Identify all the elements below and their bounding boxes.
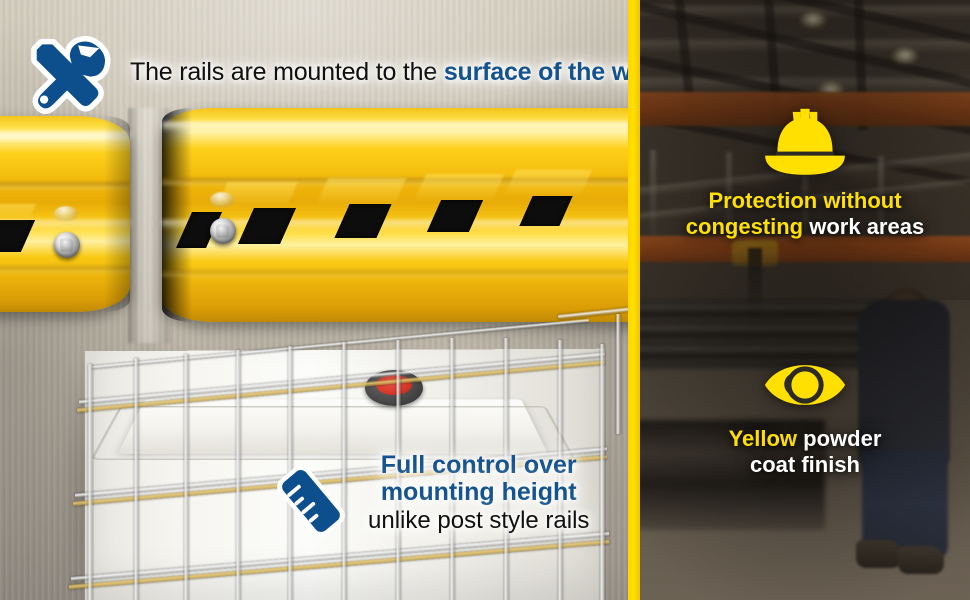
bolt-dome [54,206,78,221]
rail-end-cap [162,108,192,322]
guard-rail-main [162,108,628,322]
mounting-bolt [54,232,80,258]
rail-slot [0,220,35,252]
protection-callout-text: Protection without congesting work areas [686,188,924,239]
guard-rail-left [0,116,130,312]
bottom-text-line1: Full control over [368,452,589,479]
eye-icon [762,354,848,416]
tools-icon [22,26,114,118]
finish-line2: coat finish [729,452,882,478]
hard-hat-icon [759,104,851,178]
callout-surface-mounted: The rails are mounted to the surface of … [22,26,628,118]
top-callout-text: The rails are mounted to the surface of … [130,58,628,87]
mounting-bolt [210,218,236,244]
bottom-text-line3: unlike post style rails [368,507,589,535]
callout-powder-coat-finish: Yellow powder coat finish [640,354,970,477]
bolt-dome [210,192,234,207]
right-photo-panel: Protection without congesting work areas… [640,0,970,600]
warehouse-photo [640,0,970,600]
finish-callout-text: Yellow powder coat finish [729,426,882,477]
finish-line1: Yellow powder [729,426,882,452]
left-photo-panel: The rails are mounted to the surface of … [0,0,628,600]
rail-slot [238,208,296,244]
top-text-plain: The rails are mounted to the [130,58,444,86]
bottom-callout-text: Full control over mounting height unlike… [368,452,589,535]
ibc-tote-container [60,292,628,600]
callout-protection: Protection without congesting work areas [640,104,970,239]
callout-mounting-height: Full control over mounting height unlike… [268,452,589,544]
yellow-panel-divider [628,0,640,600]
rail-slot [334,204,391,238]
protection-line1: Protection without [686,188,924,214]
top-text-bold: surface of the wall [444,58,628,86]
bottom-text-line2: mounting height [368,479,589,506]
tote-fill-cap [365,370,423,406]
product-feature-banner: The rails are mounted to the surface of … [0,0,970,600]
protection-line2: congesting work areas [686,214,924,240]
ruler-icon [268,458,354,544]
photo-darkening-overlay [640,0,970,600]
